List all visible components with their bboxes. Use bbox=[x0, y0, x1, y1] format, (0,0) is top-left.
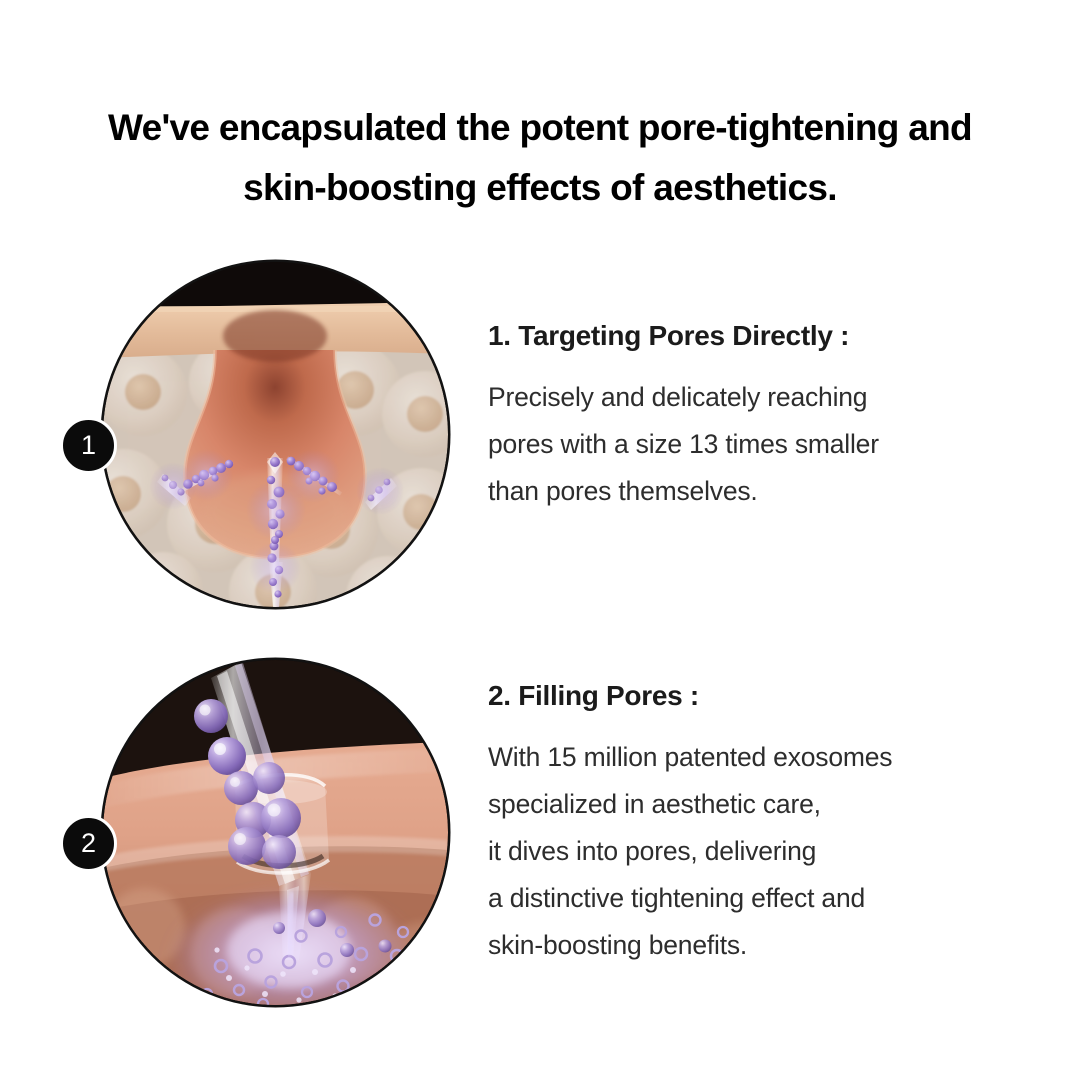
page-title: We've encapsulated the potent pore-tight… bbox=[0, 98, 1080, 218]
feature-copy-1: 1. Targeting Pores Directly : Precisely … bbox=[488, 320, 1028, 515]
headline-line-1: We've encapsulated the potent pore-tight… bbox=[108, 107, 972, 148]
body-line: a distinctive tightening effect and bbox=[488, 883, 865, 913]
body-line: it dives into pores, delivering bbox=[488, 836, 816, 866]
body-line: pores with a size 13 times smaller bbox=[488, 429, 879, 459]
feature-title-1: 1. Targeting Pores Directly : bbox=[488, 320, 1028, 352]
body-line: specialized in aesthetic care, bbox=[488, 789, 821, 819]
feature-body-1: Precisely and delicately reaching pores … bbox=[488, 374, 1028, 515]
pore-filling-image bbox=[103, 660, 448, 1005]
feature-title-2: 2. Filling Pores : bbox=[488, 680, 1028, 712]
feature-section-2: 2 2. Filling Pores : With 15 million pat… bbox=[0, 660, 1080, 1020]
step-badge-1: 1 bbox=[60, 417, 117, 474]
pore-targeting-image bbox=[103, 262, 448, 607]
body-line: than pores themselves. bbox=[488, 476, 758, 506]
body-line: With 15 million patented exosomes bbox=[488, 742, 892, 772]
body-line: skin-boosting benefits. bbox=[488, 930, 747, 960]
feature-copy-2: 2. Filling Pores : With 15 million paten… bbox=[488, 680, 1028, 969]
body-line: Precisely and delicately reaching bbox=[488, 382, 867, 412]
feature-body-2: With 15 million patented exosomes specia… bbox=[488, 734, 1028, 969]
pore-filling-media: 2 bbox=[103, 660, 448, 1005]
pore-targeting-media: 1 bbox=[103, 262, 448, 607]
headline-line-2: skin-boosting effects of aesthetics. bbox=[30, 158, 1050, 218]
step-badge-2: 2 bbox=[60, 815, 117, 872]
infographic-page: We've encapsulated the potent pore-tight… bbox=[0, 0, 1080, 1080]
feature-section-1: 1 1. Targeting Pores Directly : Precisel… bbox=[0, 262, 1080, 622]
